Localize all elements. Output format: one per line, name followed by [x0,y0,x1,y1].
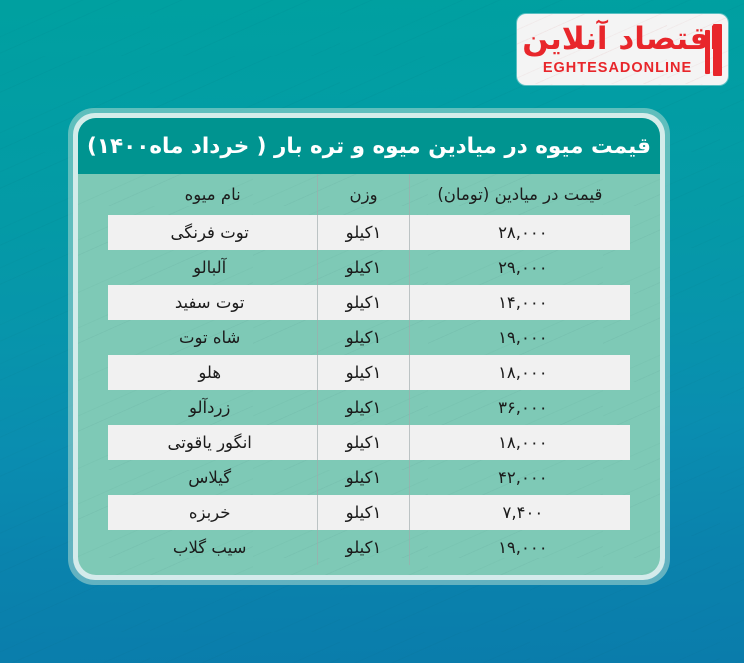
cell-weight: ۱کیلو [318,250,409,285]
cell-price: ۱۹,۰۰۰ [409,530,630,565]
price-card: قیمت میوه در میادین میوه و تره بار ( خرد… [78,118,660,575]
cell-weight: ۱کیلو [318,495,409,530]
cell-weight: ۱کیلو [318,215,409,250]
cell-weight: ۱کیلو [318,425,409,460]
table-row: ۱۹,۰۰۰۱کیلوسیب گلاب [108,530,630,565]
cell-fruit-name: هلو [108,355,318,390]
table-header-row: قیمت در میادین (تومان) وزن نام میوه [108,174,630,215]
table-row: ۲۸,۰۰۰۱کیلوتوت فرنگی [108,215,630,250]
cell-price: ۱۴,۰۰۰ [409,285,630,320]
table-row: ۱۸,۰۰۰۱کیلوهلو [108,355,630,390]
cell-price: ۳۶,۰۰۰ [409,390,630,425]
cell-weight: ۱کیلو [318,320,409,355]
cell-fruit-name: آلبالو [108,250,318,285]
cell-weight: ۱کیلو [318,355,409,390]
table-row: ۱۹,۰۰۰۱کیلوشاه توت [108,320,630,355]
cell-price: ۱۸,۰۰۰ [409,425,630,460]
table-row: ۳۶,۰۰۰۱کیلوزردآلو [108,390,630,425]
table-row: ۲۹,۰۰۰۱کیلوآلبالو [108,250,630,285]
cell-weight: ۱کیلو [318,460,409,495]
table-header: قیمت در میادین (تومان) وزن نام میوه [108,174,630,215]
column-header-price: قیمت در میادین (تومان) [409,174,630,215]
cell-weight: ۱کیلو [318,390,409,425]
site-logo[interactable]: اقتصاد آنلاین EGHTESADONLINE [517,14,728,85]
logo-latin-text: EGHTESADONLINE [527,60,708,76]
logo-persian-text: اقتصاد آنلاین [517,22,720,56]
cell-fruit-name: انگور یاقوتی [108,425,318,460]
table-row: ۱۴,۰۰۰۱کیلوتوت سفید [108,285,630,320]
cell-price: ۴۲,۰۰۰ [409,460,630,495]
cell-price: ۷,۴۰۰ [409,495,630,530]
cell-price: ۲۸,۰۰۰ [409,215,630,250]
price-card-inner-frame: قیمت میوه در میادین میوه و تره بار ( خرد… [73,113,665,580]
cell-fruit-name: توت فرنگی [108,215,318,250]
table-container: قیمت در میادین (تومان) وزن نام میوه ۲۸,۰… [78,174,660,565]
cell-price: ۱۸,۰۰۰ [409,355,630,390]
cell-fruit-name: گیلاس [108,460,318,495]
column-header-weight: وزن [318,174,409,215]
cell-weight: ۱کیلو [318,285,409,320]
cell-fruit-name: شاه توت [108,320,318,355]
table-row: ۷,۴۰۰۱کیلوخربزه [108,495,630,530]
column-header-name: نام میوه [108,174,318,215]
price-card-outer-frame: قیمت میوه در میادین میوه و تره بار ( خرد… [68,108,670,585]
table-row: ۱۸,۰۰۰۱کیلوانگور یاقوتی [108,425,630,460]
page-root: اقتصاد آنلاین EGHTESADONLINE قیمت میوه د… [0,0,744,663]
cell-fruit-name: سیب گلاب [108,530,318,565]
cell-price: ۲۹,۰۰۰ [409,250,630,285]
cell-fruit-name: خربزه [108,495,318,530]
card-title: قیمت میوه در میادین میوه و تره بار ( خرد… [78,118,660,174]
cell-price: ۱۹,۰۰۰ [409,320,630,355]
cell-fruit-name: زردآلو [108,390,318,425]
cell-weight: ۱کیلو [318,530,409,565]
table-body: ۲۸,۰۰۰۱کیلوتوت فرنگی۲۹,۰۰۰۱کیلوآلبالو۱۴,… [108,215,630,565]
cell-fruit-name: توت سفید [108,285,318,320]
table-row: ۴۲,۰۰۰۱کیلوگیلاس [108,460,630,495]
fruit-price-table: قیمت در میادین (تومان) وزن نام میوه ۲۸,۰… [108,174,630,565]
